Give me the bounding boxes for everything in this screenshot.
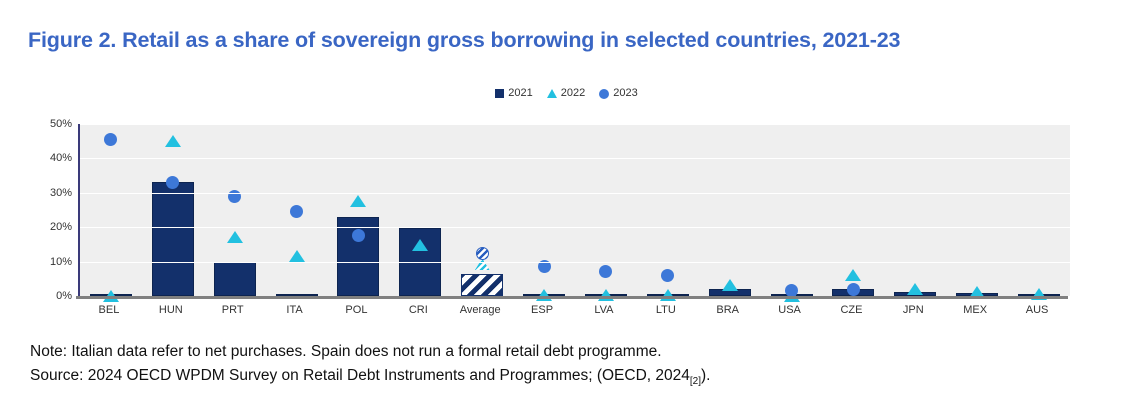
marker-2022 [165,135,181,147]
chart-category-group [575,124,637,296]
marker-2022 [722,279,738,291]
chart-legend: 2021 2022 2023 [0,88,1133,99]
plot-area [78,124,1070,296]
chart-category-group [1008,124,1070,296]
x-tick-label: AUS [1026,304,1049,316]
legend-square-icon [495,89,504,98]
source-suffix: ). [701,367,710,384]
source-citation-subscript: [2] [690,376,701,387]
marker-2023 [661,269,674,282]
chart-category-group [637,124,699,296]
x-tick-label: PRT [222,304,244,316]
legend-label-2022: 2022 [561,88,585,99]
chart-category-group [884,124,946,296]
chart-category-group [946,124,1008,296]
y-tick-label: 50% [50,118,72,130]
legend-item-2021: 2021 [495,88,532,99]
figure-container: Figure 2. Retail as a share of sovereign… [0,0,1133,407]
x-tick-label: MEX [963,304,987,316]
note-line: Note: Italian data refer to net purchase… [30,340,1110,364]
x-tick-label: BRA [716,304,739,316]
y-tick-label: 20% [50,221,72,233]
series-layer [80,124,1070,296]
y-tick-label: 40% [50,152,72,164]
marker-2022 [227,231,243,243]
marker-2022 [350,195,366,207]
chart-category-group [328,124,390,296]
y-tick-label: 0% [56,290,72,302]
page-title: Figure 2. Retail as a share of sovereign… [28,28,1108,53]
chart-category-group [80,124,142,296]
gridline [80,158,1070,159]
marker-2023 [290,205,303,218]
x-tick-label: Average [460,304,501,316]
x-axis-line [76,296,1068,299]
footnotes: Note: Italian data refer to net purchase… [30,340,1110,390]
legend-triangle-icon [547,89,557,98]
bar-2021 [461,274,503,296]
chart-category-group [142,124,204,296]
gridline [80,262,1070,263]
gridline [80,227,1070,228]
marker-2022 [412,239,428,251]
bar-2021 [152,182,194,296]
chart-category-group [823,124,885,296]
marker-2023 [476,247,489,260]
x-tick-label: CRI [409,304,428,316]
marker-2022 [289,250,305,262]
legend-item-2023: 2023 [599,88,637,99]
marker-2023 [104,133,117,146]
chart-category-group [699,124,761,296]
gridline [80,124,1070,125]
marker-2023 [228,190,241,203]
x-tick-label: JPN [903,304,924,316]
source-line: Source: 2024 OECD WPDM Survey on Retail … [30,364,1110,390]
x-tick-label: ITA [286,304,302,316]
chart-category-group [451,124,513,296]
chart-category-group [389,124,451,296]
marker-2022 [907,283,923,295]
chart-category-group [513,124,575,296]
x-tick-label: USA [778,304,801,316]
y-axis: 0%10%20%30%40%50% [30,118,72,302]
marker-2023 [599,265,612,278]
x-tick-label: BEL [99,304,120,316]
x-tick-label: POL [345,304,367,316]
bar-2021 [214,262,256,296]
x-axis: BELHUNPRTITAPOLCRIAverageESPLVALTUBRAUSA… [78,304,1068,326]
x-tick-label: CZE [840,304,862,316]
gridline [80,193,1070,194]
legend-label-2021: 2021 [508,88,532,99]
x-tick-label: LTU [656,304,676,316]
marker-2022 [845,269,861,281]
chart-category-group [204,124,266,296]
legend-label-2023: 2023 [613,88,637,99]
y-tick-label: 10% [50,256,72,268]
x-tick-label: HUN [159,304,183,316]
x-tick-label: LVA [594,304,613,316]
source-text: Source: 2024 OECD WPDM Survey on Retail … [30,367,690,384]
marker-2023 [847,283,860,296]
marker-2022 [475,258,490,270]
chart-plot-wrapper: 0%10%20%30%40%50% BELHUNPRTITAPOLCRIAver… [0,118,1133,328]
legend-circle-icon [599,89,609,99]
chart-category-group [266,124,328,296]
y-tick-label: 30% [50,187,72,199]
legend-item-2022: 2022 [547,88,585,99]
x-tick-label: ESP [531,304,553,316]
chart-category-group [761,124,823,296]
